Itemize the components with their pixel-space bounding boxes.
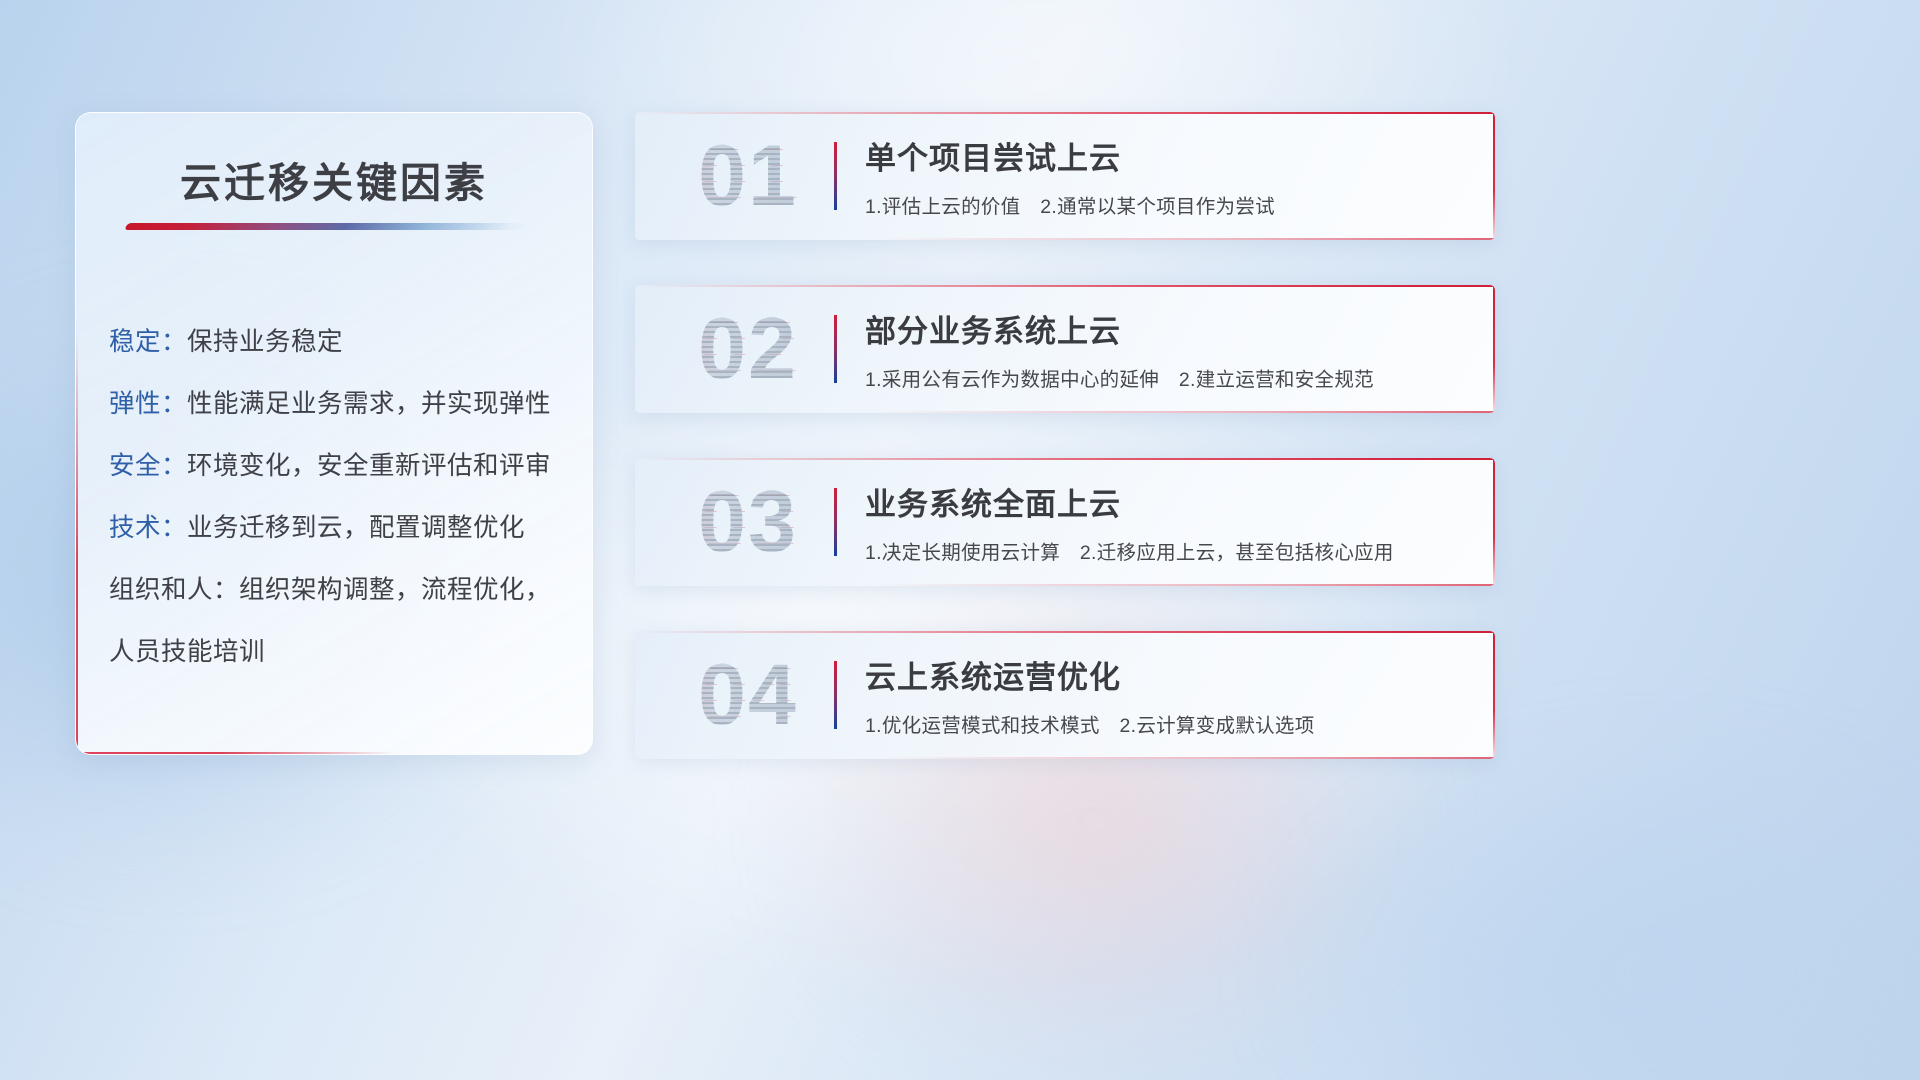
list-item: 人员技能培训 <box>109 621 572 683</box>
card-subtitle: 1.评估上云的价值 2.通常以某个项目作为尝试 <box>865 190 1477 219</box>
factor-text: 人员技能培训 <box>109 638 265 666</box>
card-divider-bar <box>834 315 837 383</box>
card-content: 业务系统全面上云 1.决定长期使用云计算 2.迁移应用上云，甚至包括核心应用 <box>865 458 1477 586</box>
list-item: 弹性：性能满足业务需求，并实现弹性 <box>109 373 572 435</box>
list-item: 安全：环境变化，安全重新评估和评审 <box>109 435 572 497</box>
card-title: 部分业务系统上云 <box>865 306 1477 351</box>
panel-left-accent-line <box>76 331 78 754</box>
card-right-accent-border <box>1493 285 1495 413</box>
factor-text: 业务迁移到云，配置调整优化 <box>187 514 525 542</box>
card-divider-bar <box>834 488 837 556</box>
slide-canvas: 云迁移关键因素 稳定：保持业务稳定 弹性：性能满足业务需求，并实现弹性 安全：环… <box>0 0 1920 1080</box>
factor-text: 性能满足业务需求，并实现弹性 <box>187 390 551 418</box>
stage-number: 03 <box>663 479 833 565</box>
stage-card-list: 01 01 单个项目尝试上云 1.评估上云的价值 2.通常以某个项目作为尝试 0… <box>635 112 1495 804</box>
stage-number: 04 <box>663 652 833 738</box>
card-title: 业务系统全面上云 <box>865 479 1477 524</box>
card-title: 云上系统运营优化 <box>865 652 1477 697</box>
stage-number: 01 <box>663 133 833 219</box>
stage-card-03[interactable]: 03 03 业务系统全面上云 1.决定长期使用云计算 2.迁移应用上云，甚至包括… <box>635 458 1495 586</box>
card-content: 单个项目尝试上云 1.评估上云的价值 2.通常以某个项目作为尝试 <box>865 112 1477 240</box>
page-title: 云迁移关键因素 <box>76 149 592 209</box>
factor-list: 稳定：保持业务稳定 弹性：性能满足业务需求，并实现弹性 安全：环境变化，安全重新… <box>109 311 572 683</box>
title-underline-gradient <box>124 223 528 230</box>
card-subtitle: 1.决定长期使用云计算 2.迁移应用上云，甚至包括核心应用 <box>865 536 1477 565</box>
card-content: 部分业务系统上云 1.采用公有云作为数据中心的延伸 2.建立运营和安全规范 <box>865 285 1477 413</box>
list-item: 稳定：保持业务稳定 <box>109 311 572 373</box>
stage-card-02[interactable]: 02 02 部分业务系统上云 1.采用公有云作为数据中心的延伸 2.建立运营和安… <box>635 285 1495 413</box>
list-item: 技术：业务迁移到云，配置调整优化 <box>109 497 572 559</box>
factor-label: 组织和人： <box>109 576 239 604</box>
factor-text: 保持业务稳定 <box>187 328 343 356</box>
factor-text: 环境变化，安全重新评估和评审 <box>187 452 551 480</box>
card-content: 云上系统运营优化 1.优化运营模式和技术模式 2.云计算变成默认选项 <box>865 631 1477 759</box>
stage-card-01[interactable]: 01 01 单个项目尝试上云 1.评估上云的价值 2.通常以某个项目作为尝试 <box>635 112 1495 240</box>
stage-number: 02 <box>663 306 833 392</box>
factor-label: 技术： <box>109 514 187 542</box>
key-factors-panel: 云迁移关键因素 稳定：保持业务稳定 弹性：性能满足业务需求，并实现弹性 安全：环… <box>75 112 593 755</box>
card-divider-bar <box>834 661 837 729</box>
card-right-accent-border <box>1493 631 1495 759</box>
card-right-accent-border <box>1493 458 1495 586</box>
factor-label: 弹性： <box>109 390 187 418</box>
factor-text: 组织架构调整，流程优化， <box>239 576 551 604</box>
card-title: 单个项目尝试上云 <box>865 133 1477 178</box>
card-divider-bar <box>834 142 837 210</box>
factor-label: 安全： <box>109 452 187 480</box>
card-subtitle: 1.采用公有云作为数据中心的延伸 2.建立运营和安全规范 <box>865 363 1477 392</box>
factor-label: 稳定： <box>109 328 187 356</box>
card-subtitle: 1.优化运营模式和技术模式 2.云计算变成默认选项 <box>865 709 1477 738</box>
card-right-accent-border <box>1493 112 1495 240</box>
list-item: 组织和人：组织架构调整，流程优化， <box>109 559 572 621</box>
panel-bottom-accent-line <box>76 752 396 754</box>
stage-card-04[interactable]: 04 04 云上系统运营优化 1.优化运营模式和技术模式 2.云计算变成默认选项 <box>635 631 1495 759</box>
